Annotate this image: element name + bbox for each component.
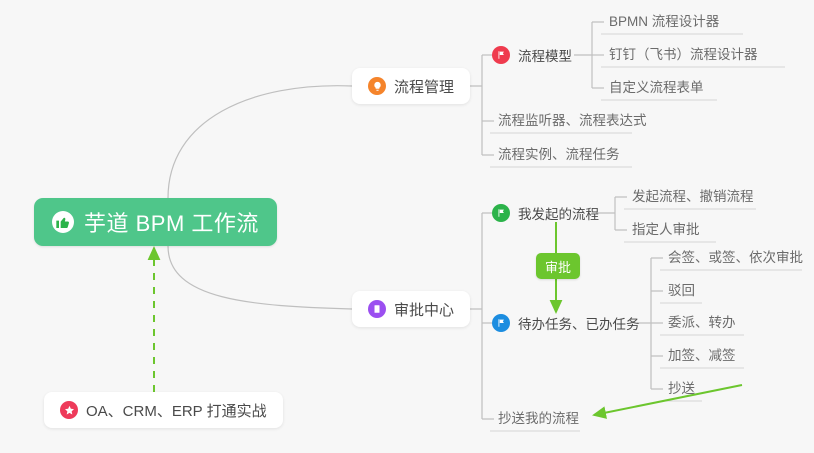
node-approval-center[interactable]: 审批中心 [352, 291, 470, 327]
link-root-to-approval-center [168, 246, 352, 309]
node-dingtalk-feishu-designer[interactable]: 钉钉（飞书）流程设计器 [601, 45, 766, 67]
flag-red-icon [492, 46, 510, 64]
node-counter-or-sequential-sign[interactable]: 会签、或签、依次审批 [660, 248, 811, 270]
node-label: 待办任务、已办任务 [518, 313, 640, 333]
node-carbon-copy[interactable]: 抄送 [660, 379, 703, 401]
node-bpmn-designer[interactable]: BPMN 流程设计器 [601, 12, 727, 34]
mindmap-canvas: 芋道 BPM 工作流 OA、CRM、ERP 打通实战 流程管理 流程模型 BPM… [0, 0, 814, 453]
root-label: 芋道 BPM 工作流 [84, 206, 259, 238]
link-root-to-process-management [168, 86, 352, 198]
node-label: 流程模型 [518, 45, 572, 65]
node-reject[interactable]: 驳回 [660, 281, 703, 303]
node-my-initiated-process[interactable]: 我发起的流程 [492, 202, 599, 224]
node-process-instance-task[interactable]: 流程实例、流程任务 [490, 145, 628, 167]
node-label: 我发起的流程 [518, 203, 599, 223]
flag-green-icon [492, 204, 510, 222]
node-process-management[interactable]: 流程管理 [352, 68, 470, 104]
node-process-model[interactable]: 流程模型 [492, 44, 572, 66]
node-process-listener-expression[interactable]: 流程监听器、流程表达式 [490, 111, 655, 133]
node-custom-process-form[interactable]: 自定义流程表单 [601, 78, 712, 100]
flag-blue-icon [492, 314, 510, 332]
thumbs-up-icon [52, 211, 74, 233]
node-assignee-approval[interactable]: 指定人审批 [624, 220, 708, 242]
callout-label: OA、CRM、ERP 打通实战 [86, 400, 267, 421]
node-cc-to-me-process[interactable]: 抄送我的流程 [490, 409, 587, 431]
node-add-remove-sign[interactable]: 加签、减签 [660, 346, 744, 368]
node-todo-done-task[interactable]: 待办任务、已办任务 [492, 312, 640, 334]
root-node[interactable]: 芋道 BPM 工作流 [34, 198, 277, 246]
node-label: 审批中心 [394, 299, 454, 320]
node-delegate-transfer[interactable]: 委派、转办 [660, 313, 744, 335]
node-start-cancel-process[interactable]: 发起流程、撤销流程 [624, 187, 762, 209]
star-icon [60, 401, 78, 419]
clipboard-icon [368, 300, 386, 318]
tag-approval[interactable]: 审批 [536, 253, 580, 279]
callout-node-oa-crm-erp[interactable]: OA、CRM、ERP 打通实战 [44, 392, 283, 428]
node-label: 流程管理 [394, 76, 454, 97]
lightbulb-icon [368, 77, 386, 95]
